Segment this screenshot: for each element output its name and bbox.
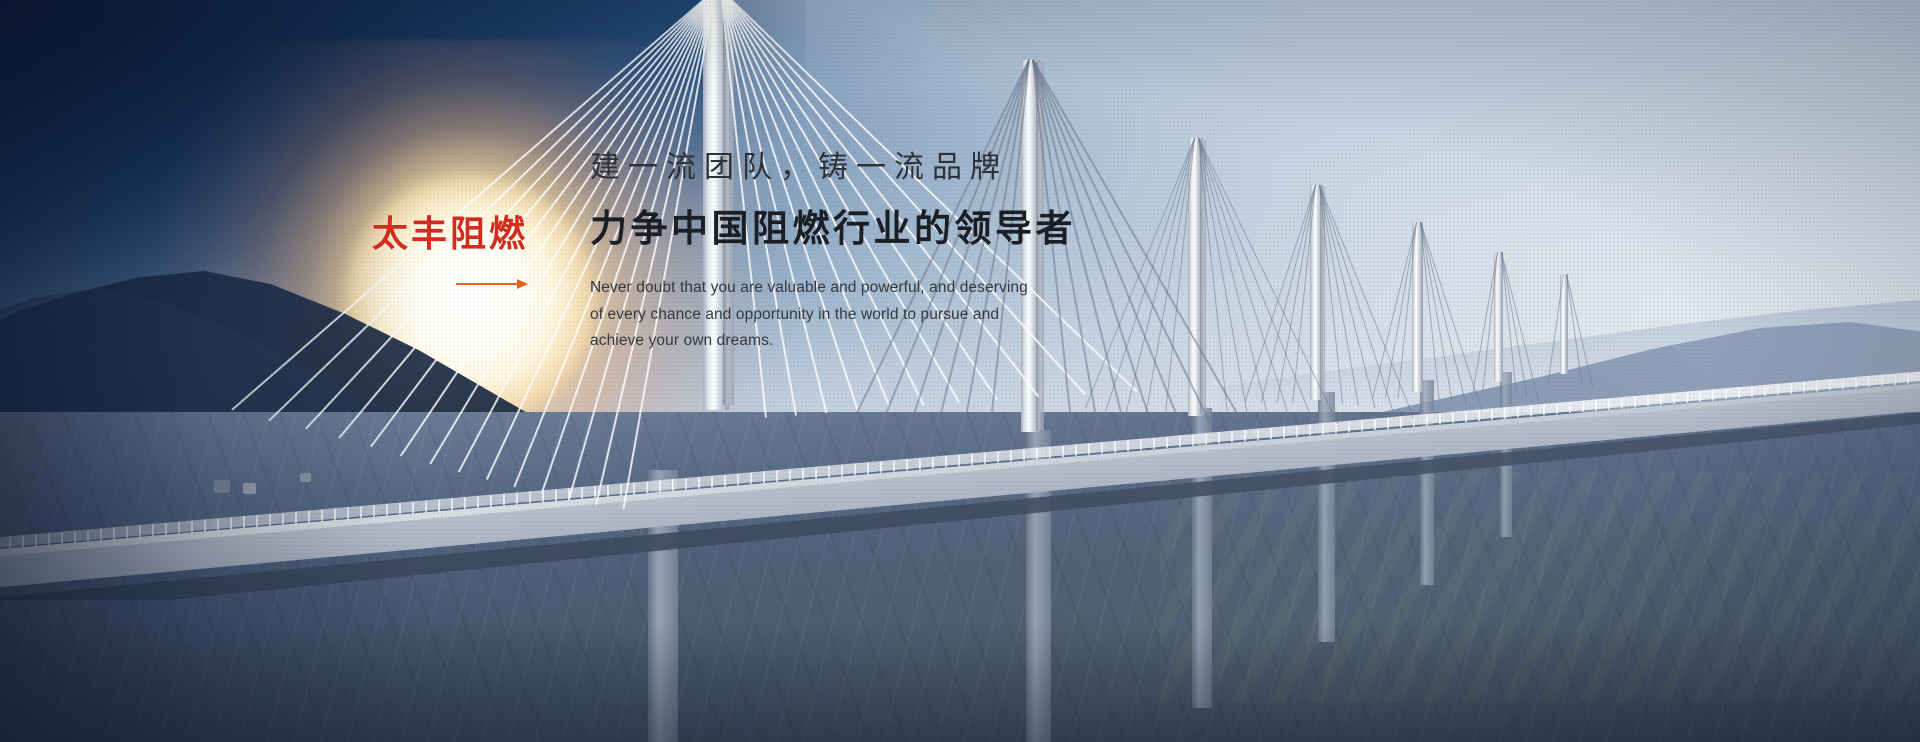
hero-paragraph-line: Never doubt that you are valuable and po…	[590, 275, 1150, 302]
arrow-right-icon	[456, 278, 528, 290]
banner-content: 太丰阻燃 建一流团队，铸一流品牌 力争中国阻燃行业的领导者 Never doub…	[0, 0, 1920, 742]
hero-paragraph: Never doubt that you are valuable and po…	[590, 275, 1150, 355]
brand-logo-text: 太丰阻燃	[372, 216, 542, 252]
brand-logo[interactable]: 太丰阻燃	[372, 216, 542, 290]
hero-banner: 太丰阻燃 建一流团队，铸一流品牌 力争中国阻燃行业的领导者 Never doub…	[0, 0, 1920, 742]
hero-text-block: 建一流团队，铸一流品牌 力争中国阻燃行业的领导者 Never doubt tha…	[590, 150, 1150, 355]
hero-subheading: 建一流团队，铸一流品牌	[590, 150, 1150, 186]
arrow-shaft	[456, 283, 522, 285]
hero-paragraph-line: of every chance and opportunity in the w…	[590, 302, 1150, 329]
hero-paragraph-line: achieve your own dreams.	[590, 328, 1150, 355]
hero-heading: 力争中国阻燃行业的领导者	[590, 206, 1150, 251]
arrow-head	[517, 279, 528, 289]
